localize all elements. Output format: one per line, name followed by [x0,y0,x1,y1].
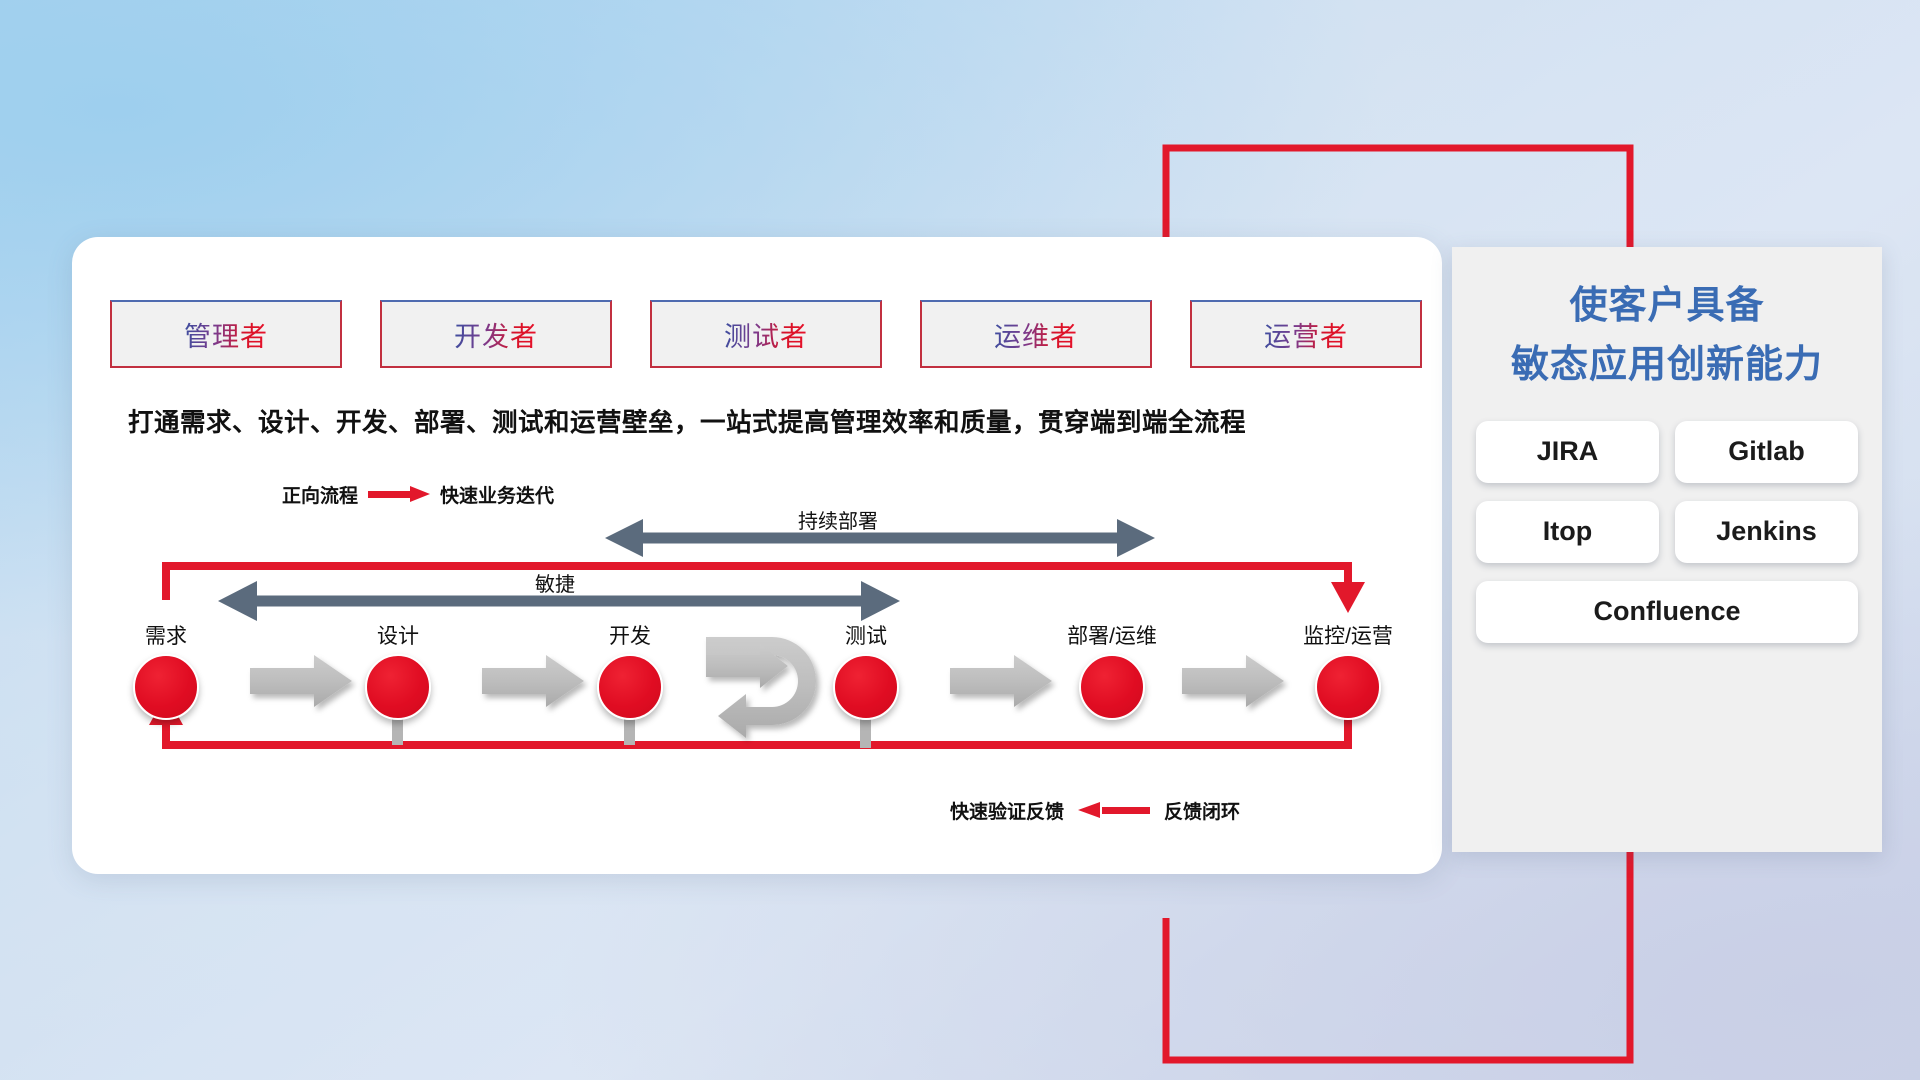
role-label: 开发者 [454,315,538,354]
forward-flow-left-label: 正向流程 [282,481,358,508]
tool-chip-jenkins[interactable]: Jenkins [1675,501,1858,563]
headline-text: 打通需求、设计、开发、部署、测试和运营壁垒，一站式提高管理效率和质量，贯穿端到端… [128,402,1418,439]
feedback-right-label: 反馈闭环 [1164,797,1240,824]
role-label: 运营者 [1264,315,1348,354]
arrow-left-icon [1078,802,1150,819]
stage-node-monitor-operations[interactable] [1315,654,1381,720]
role-box-row: 管理者 开发者 测试者 运维者 运营者 [110,300,1422,368]
tools-panel-title-line2: 敏态应用创新能力 [1452,336,1882,395]
tools-chip-grid: JIRA Gitlab Itop Jenkins Confluence [1466,421,1868,643]
stage-label-develop: 开发 [609,620,651,650]
stage-label-monitor-operations: 监控/运营 [1303,620,1393,650]
tool-chip-itop[interactable]: Itop [1476,501,1659,563]
stage-label-test: 测试 [845,620,887,650]
band-label-continuous-deployment: 持续部署 [798,505,878,534]
stage-node-test[interactable] [833,654,899,720]
band-label-agile: 敏捷 [535,568,575,597]
tools-panel: 使客户具备 敏态应用创新能力 JIRA Gitlab Itop Jenkins … [1452,247,1882,852]
tool-chip-confluence[interactable]: Confluence [1476,581,1858,643]
tools-panel-title: 使客户具备 敏态应用创新能力 [1452,277,1882,395]
stage-label-deploy-ops: 部署/运维 [1067,620,1157,650]
forward-flow-right-label: 快速业务迭代 [440,481,554,508]
feedback-left-label: 快速验证反馈 [950,797,1064,824]
role-box-developer[interactable]: 开发者 [380,300,612,368]
stage-node-deploy-ops[interactable] [1079,654,1145,720]
forward-flow-caption: 正向流程 快速业务迭代 [282,481,554,508]
role-box-manager[interactable]: 管理者 [110,300,342,368]
tools-panel-title-line1: 使客户具备 [1452,277,1882,336]
role-box-ops[interactable]: 运维者 [920,300,1152,368]
role-label: 测试者 [724,315,808,354]
role-label: 运维者 [994,315,1078,354]
arrow-right-icon [368,486,430,503]
stage-node-requirements[interactable] [133,654,199,720]
stage-label-design: 设计 [377,620,419,650]
stage-node-develop[interactable] [597,654,663,720]
stage-node-design[interactable] [365,654,431,720]
role-label: 管理者 [184,315,268,354]
tool-chip-jira[interactable]: JIRA [1476,421,1659,483]
role-box-tester[interactable]: 测试者 [650,300,882,368]
role-box-operations[interactable]: 运营者 [1190,300,1422,368]
tool-chip-gitlab[interactable]: Gitlab [1675,421,1858,483]
feedback-loop-caption: 快速验证反馈 反馈闭环 [950,797,1240,824]
stage-label-requirements: 需求 [145,620,187,650]
